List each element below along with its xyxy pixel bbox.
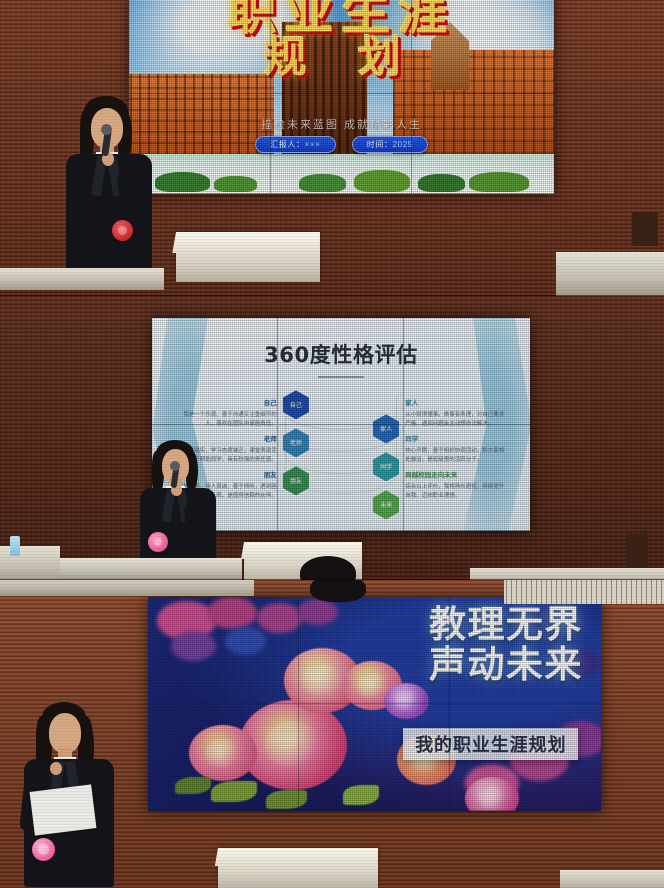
panel-middle: 360度性格评估 自己 我是一个乐观、善于沟通又注重细节的人，喜欢在团队中承担责… — [0, 296, 664, 580]
assessment-item: 自己 我是一个乐观、善于沟通又注重细节的人，喜欢在团队中承担责任。 — [175, 399, 277, 428]
panel-divider — [0, 579, 664, 580]
rose-bloom — [384, 683, 429, 719]
slide-career-planning: 职业生涯 规 划 描绘未来蓝图 成就精彩人生 汇报人：××× 时间：2025 — [129, 0, 554, 194]
date-badge: 时间：2025 — [352, 136, 428, 153]
assessment-item: 跨越校园走向未来 综合以上评价，我将扬长避短，持续提升自我，迈向职业理想。 — [405, 471, 507, 500]
water-bottle — [10, 536, 20, 556]
panel-bottom: 教理无界 声动未来 我的职业生涯规划 — [0, 580, 664, 888]
side-table — [0, 546, 60, 580]
led-video-wall: 教理无界 声动未来 我的职业生涯规划 — [148, 597, 601, 811]
screenshot-stage: 职业生涯 规 划 描绘未来蓝图 成就精彩人生 汇报人：××× 时间：2025 — [0, 0, 664, 888]
side-table — [556, 252, 664, 296]
shrub — [214, 176, 257, 192]
stage-rail-left — [0, 268, 164, 290]
shrub — [354, 170, 409, 192]
slide-banner: 我的职业生涯规划 — [403, 728, 578, 760]
flower-corsage — [112, 220, 133, 241]
item-heading: 自己 — [175, 399, 277, 409]
item-body: 热心开朗，善于组织协调活动，和大家相处融洽，是班级里的活跃分子。 — [405, 448, 504, 463]
lectern — [176, 232, 320, 282]
headline-line1: 教理无界 — [429, 606, 583, 644]
chair — [626, 534, 648, 568]
chair — [632, 212, 658, 246]
lectern-top-surface — [215, 848, 378, 866]
slide-subtitle: 描绘未来蓝图 成就精彩人生 — [129, 116, 554, 132]
item-heading: 同学 — [405, 435, 507, 445]
shrub — [299, 174, 346, 192]
flower-corsage — [148, 532, 168, 552]
shrub — [469, 172, 529, 192]
table-fringe — [504, 580, 664, 604]
hex-node-diagram: 自己 家人 老师 同学 朋友 未来 — [281, 390, 402, 514]
presentation-notes — [30, 784, 97, 835]
headline-line2: 声动未来 — [429, 646, 583, 684]
hex-node: 未来 — [373, 490, 399, 519]
presenter-one — [58, 96, 164, 286]
face — [49, 713, 81, 753]
microphone-head — [101, 124, 112, 135]
assessment-column-right: 家人 从小就很懂事，做事有条理，对自己要求严格，遇到问题会主动想办法解决。 同学… — [405, 399, 507, 507]
lectern — [218, 848, 378, 888]
item-heading: 家人 — [405, 399, 507, 409]
slide-title-line2: 规 划 — [129, 38, 554, 78]
stage-rail-top — [0, 580, 254, 596]
item-body: 我是一个乐观、善于沟通又注重细节的人，喜欢在团队中承担责任。 — [183, 412, 277, 427]
microphone-head — [170, 461, 180, 471]
slide-headline: 教理无界 声动未来 — [429, 606, 583, 684]
panel-top: 职业生涯 规 划 描绘未来蓝图 成就精彩人生 汇报人：××× 时间：2025 — [0, 0, 664, 296]
hand — [50, 762, 62, 775]
presenter-badge: 汇报人：××× — [255, 136, 336, 153]
item-body: 综合以上评价，我将扬长避短，持续提升自我，迈向职业理想。 — [405, 484, 504, 499]
slide-title: 360度性格评估 — [152, 339, 530, 369]
slide-teaching-future: 教理无界 声动未来 我的职业生涯规划 — [148, 597, 601, 811]
item-heading: 跨越校园走向未来 — [405, 471, 507, 481]
assessment-item: 家人 从小就很懂事，做事有条理，对自己要求严格，遇到问题会主动想办法解决。 — [405, 399, 507, 428]
led-video-wall: 职业生涯 规 划 描绘未来蓝图 成就精彩人生 汇报人：××× 时间：2025 — [129, 0, 554, 194]
lectern-top-surface — [241, 542, 362, 559]
rose-bloom — [189, 725, 257, 781]
side-table — [560, 870, 664, 888]
assessment-item: 同学 热心开朗，善于组织协调活动，和大家相处融洽，是班级里的活跃分子。 — [405, 435, 507, 464]
presenter-three — [14, 702, 126, 888]
shrub — [418, 174, 465, 192]
panel-divider — [0, 295, 664, 296]
slide-title: 职业生涯 规 划 — [129, 0, 554, 78]
lectern-top-surface — [172, 232, 320, 253]
title-underline — [318, 376, 364, 378]
slide-badge-row: 汇报人：××× 时间：2025 — [129, 136, 554, 153]
draped-table — [504, 580, 664, 604]
audience-head — [310, 580, 366, 602]
flower-corsage — [32, 838, 55, 861]
item-body: 从小就很懂事，做事有条理，对自己要求严格，遇到问题会主动想办法解决。 — [405, 412, 504, 427]
